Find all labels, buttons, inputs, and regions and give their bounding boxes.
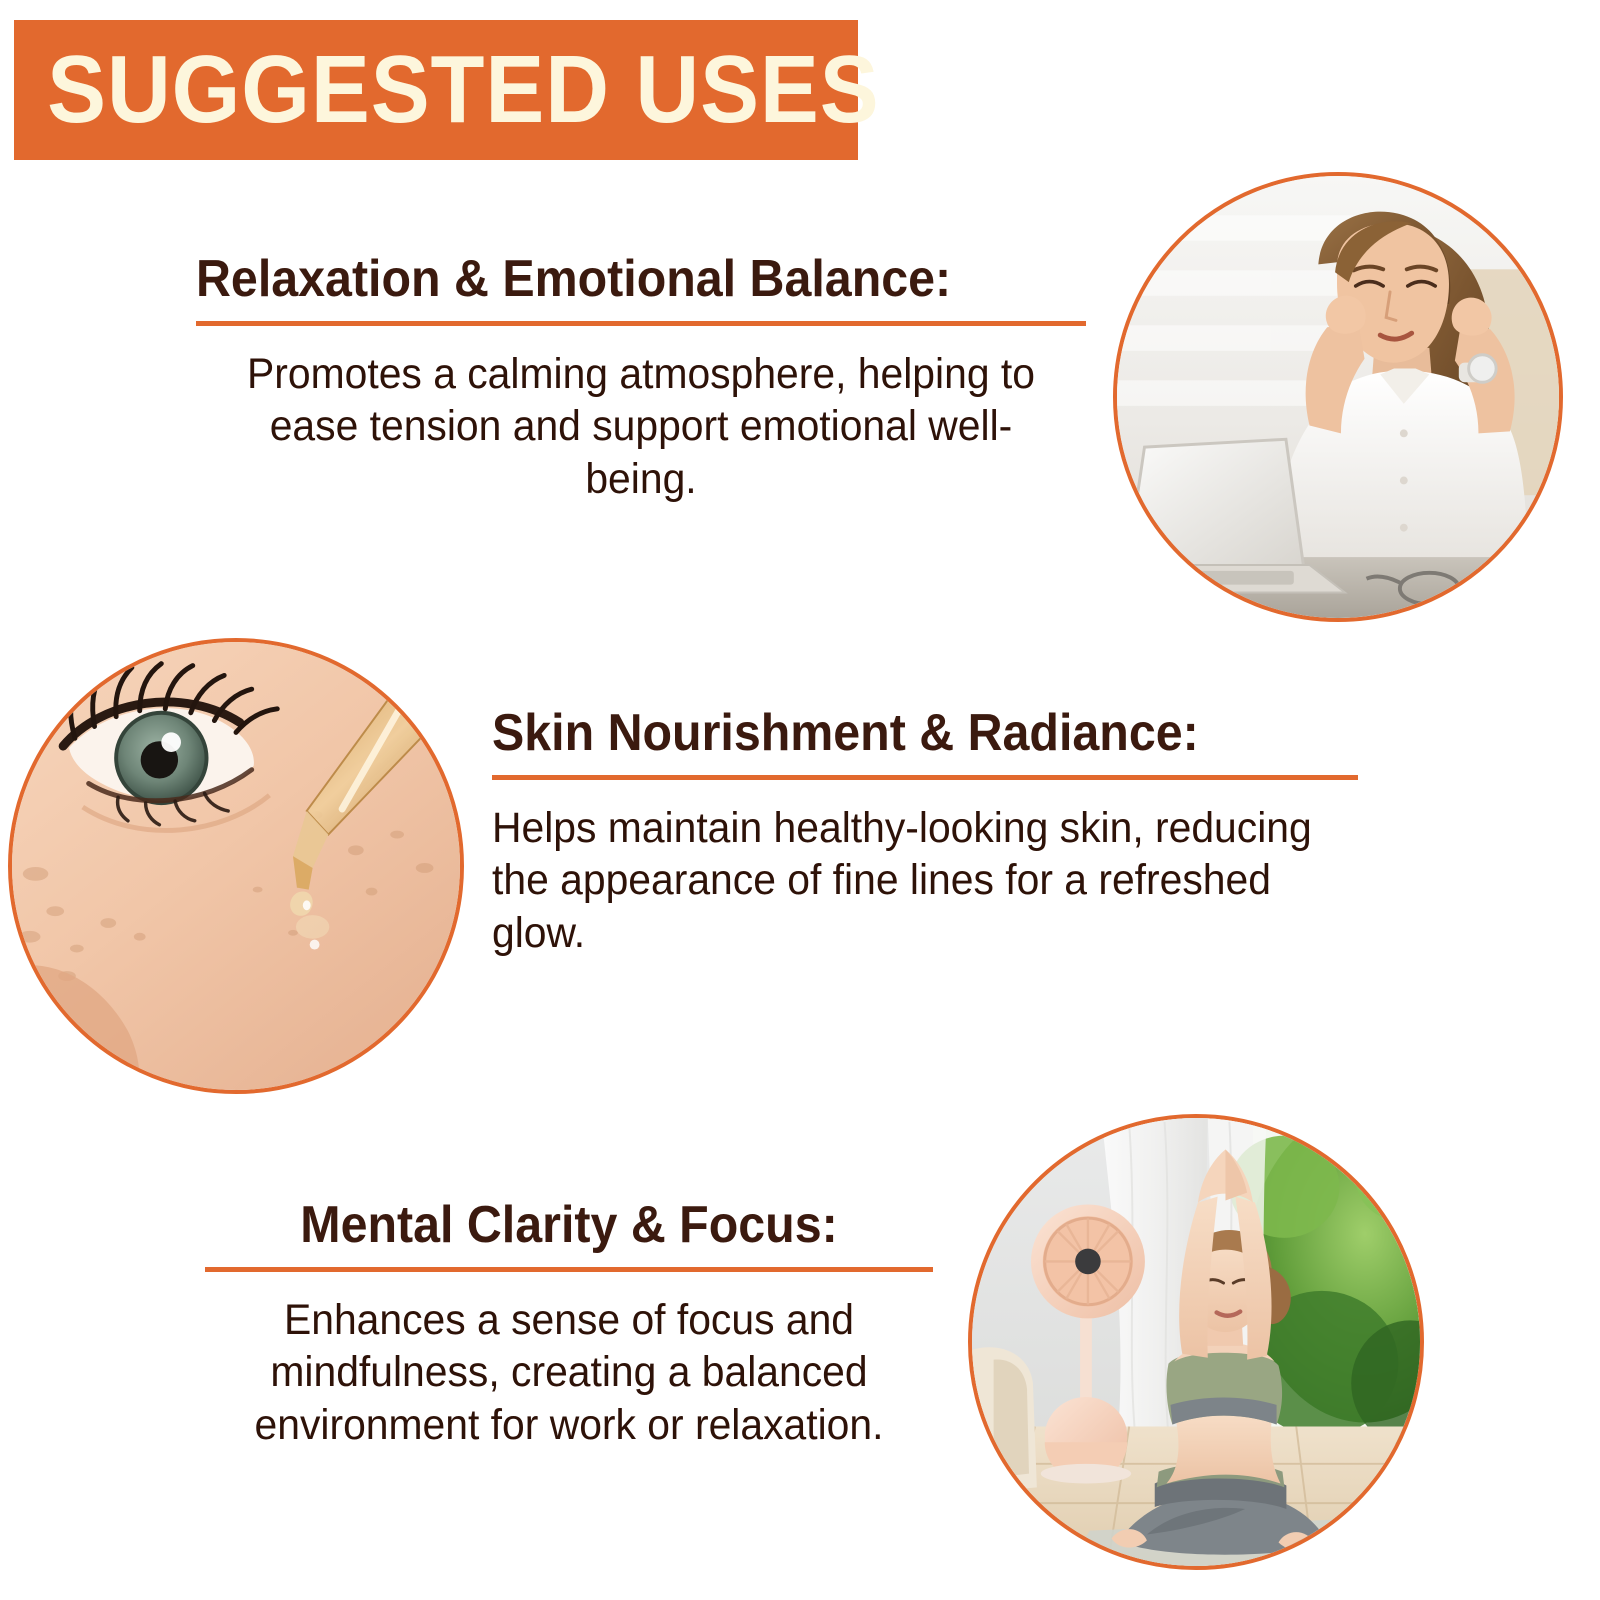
suggested-uses-banner: SUGGESTED USES [14, 20, 858, 160]
section-heading: Relaxation & Emotional Balance: [196, 252, 1024, 307]
section-heading: Mental Clarity & Focus: [230, 1198, 907, 1253]
section-divider-rule [196, 321, 1086, 326]
section-divider-rule [492, 775, 1358, 780]
section-body-text: Promotes a calming atmosphere, helping t… [218, 348, 1064, 505]
section-heading: Skin Nourishment & Radiance: [492, 706, 1297, 761]
section-mental-clarity-focus: Mental Clarity & Focus: Enhances a sense… [205, 1198, 933, 1451]
photo-serum-dropper-near-eye [8, 638, 464, 1094]
serum-photo-illustration [12, 642, 460, 1090]
photo-woman-with-headache-at-laptop [1113, 172, 1563, 622]
section-skin-nourishment-radiance: Skin Nourishment & Radiance: Helps maint… [492, 706, 1358, 959]
banner-title: SUGGESTED USES [14, 42, 880, 138]
photo-woman-meditating-with-fan [968, 1114, 1424, 1570]
section-relaxation-emotional-balance: Relaxation & Emotional Balance: Promotes… [196, 252, 1086, 505]
section-divider-rule [205, 1267, 933, 1272]
section-body-text: Enhances a sense of focus and mindfulnes… [223, 1294, 915, 1451]
yoga-photo-illustration [972, 1118, 1420, 1566]
section-body-text: Helps maintain healthy-looking skin, red… [492, 802, 1315, 959]
headache-photo-illustration [1117, 176, 1559, 618]
